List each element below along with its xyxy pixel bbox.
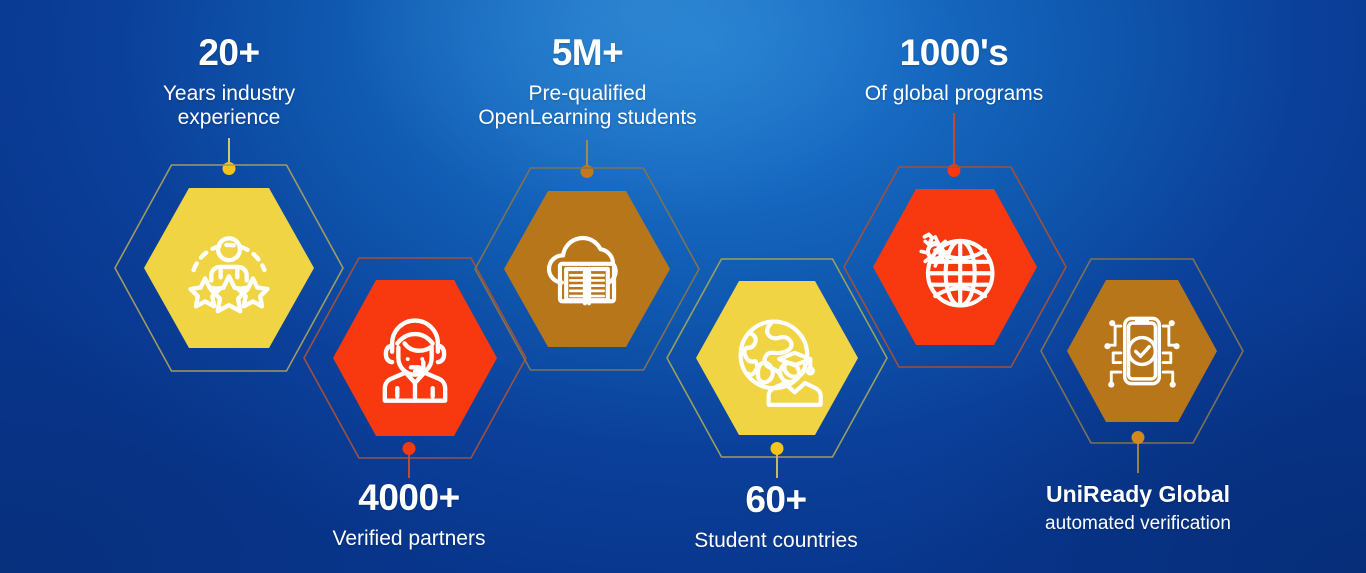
stat-value: 4000+ <box>284 476 534 520</box>
stat-description: automated verification <box>1007 513 1269 535</box>
hexagon-uniready-global[interactable] <box>1040 256 1244 446</box>
globe-graduate-icon <box>725 306 829 410</box>
support-agent-headset-icon <box>363 306 467 410</box>
caption-student-countries: 60+ Student countries <box>651 478 901 553</box>
infographic-canvas: 20+ Years industry experience <box>0 0 1366 573</box>
caption-uniready-global: UniReady Global automated verification <box>1007 481 1269 536</box>
stat-description: Years industry experience <box>104 82 354 132</box>
hexagon-global-programs[interactable] <box>843 164 1067 370</box>
caption-verified-partners: 4000+ Verified partners <box>284 476 534 551</box>
stat-value: 5M+ <box>455 31 720 75</box>
connector-dot <box>403 442 416 455</box>
connector-verified-partners <box>408 448 410 478</box>
connector-line <box>953 113 955 171</box>
connector-dot <box>771 442 784 455</box>
stat-description: Of global programs <box>829 82 1079 107</box>
stat-value: 60+ <box>651 478 901 522</box>
stat-description: Verified partners <box>284 527 534 552</box>
connector-student-countries <box>776 448 778 478</box>
caption-openlearning-students: 5M+ Pre-qualified OpenLearning students <box>455 31 720 131</box>
connector-dot <box>1132 431 1145 444</box>
stat-description: Student countries <box>651 529 901 554</box>
caption-global-programs: 1000's Of global programs <box>829 31 1079 106</box>
phone-verified-circuit-icon <box>1094 303 1190 399</box>
stat-value: UniReady Global <box>1007 481 1269 508</box>
person-stars-rating-icon <box>177 216 281 320</box>
connector-uniready-global <box>1137 437 1139 473</box>
stat-value: 20+ <box>104 31 354 75</box>
cloud-book-icon <box>535 217 639 321</box>
globe-gear-icon <box>903 215 1007 319</box>
caption-years-experience: 20+ Years industry experience <box>104 31 354 131</box>
stat-value: 1000's <box>829 31 1079 75</box>
connector-global-programs <box>953 113 955 171</box>
stat-description: Pre-qualified OpenLearning students <box>455 82 720 132</box>
